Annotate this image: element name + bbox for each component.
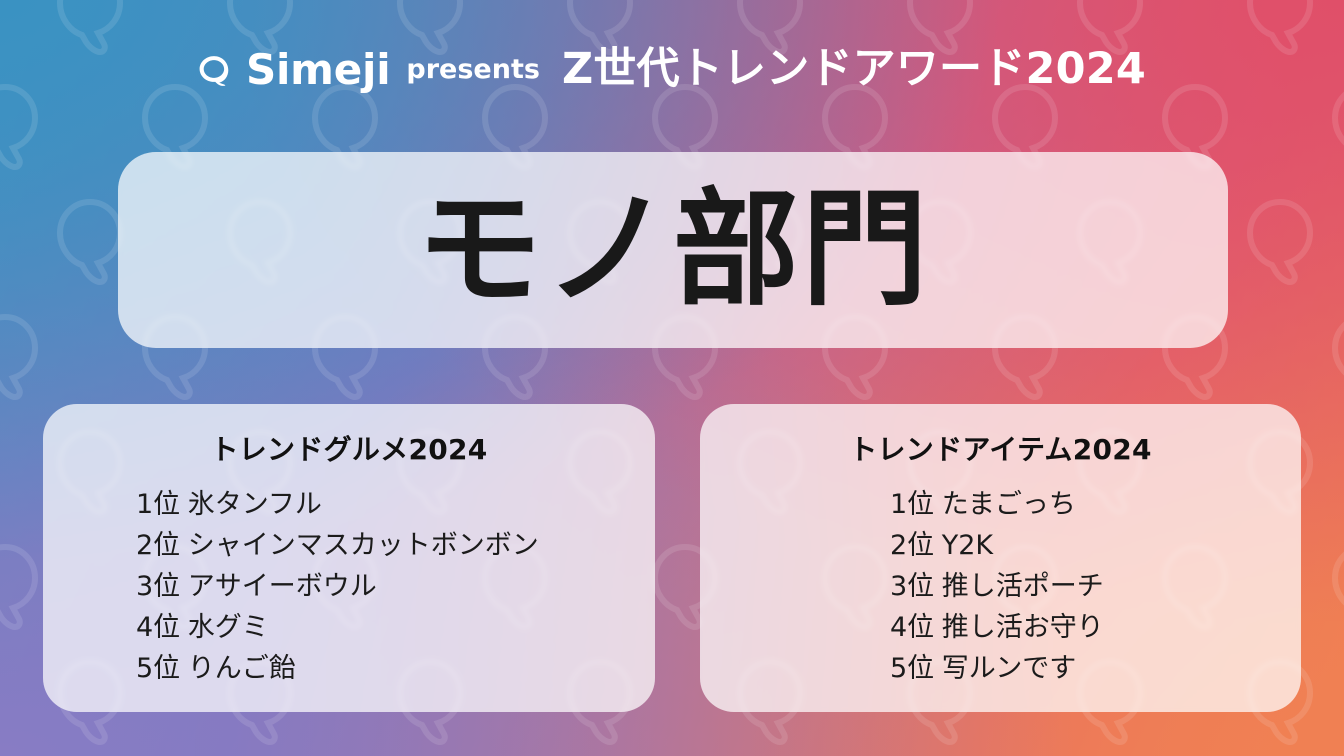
rank-position: 3位 [136, 571, 180, 602]
list-item: 1位氷タンフル [136, 484, 655, 525]
list-item: 3位アサイーボウル [136, 566, 655, 607]
ranking-heading: トレンドグルメ2024 [43, 428, 655, 468]
list-item: 4位推し活お守り [890, 607, 1301, 648]
rank-position: 5位 [136, 653, 180, 684]
ranking-card-gourmet: トレンドグルメ2024 1位氷タンフル 2位シャインマスカットボンボン 3位アサ… [43, 404, 655, 712]
rank-position: 2位 [136, 530, 180, 561]
page-title: モノ部門 [416, 187, 930, 313]
rank-position: 4位 [890, 612, 934, 643]
list-item: 1位たまごっち [890, 484, 1301, 525]
award-title: Z世代トレンドアワード2024 [562, 48, 1146, 91]
presents-label: presents [406, 56, 540, 83]
ranking-list: 1位氷タンフル 2位シャインマスカットボンボン 3位アサイーボウル 4位水グミ … [43, 484, 655, 689]
list-item: 3位推し活ポーチ [890, 566, 1301, 607]
rank-position: 2位 [890, 530, 934, 561]
rank-name: たまごっち [942, 489, 1076, 520]
ranking-heading: トレンドアイテム2024 [700, 428, 1301, 468]
list-item: 2位Y2K [890, 525, 1301, 566]
rank-position: 4位 [136, 612, 180, 643]
category-title-card: モノ部門 [118, 152, 1228, 348]
rank-name: 推し活ポーチ [942, 571, 1104, 602]
poster-header: Simeji presents Z世代トレンドアワード2024 [0, 48, 1344, 91]
simeji-q-bubble-icon [198, 54, 232, 88]
rank-position: 1位 [136, 489, 180, 520]
rank-name: 氷タンフル [188, 489, 322, 520]
rank-name: アサイーボウル [188, 571, 377, 602]
list-item: 4位水グミ [136, 607, 655, 648]
rank-name: シャインマスカットボンボン [188, 530, 539, 561]
rank-name: 水グミ [188, 612, 269, 643]
rank-name: りんご飴 [188, 653, 296, 684]
list-item: 5位写ルンです [890, 648, 1301, 689]
poster-canvas: Simeji presents Z世代トレンドアワード2024 モノ部門 トレン… [0, 0, 1344, 756]
ranking-card-item: トレンドアイテム2024 1位たまごっち 2位Y2K 3位推し活ポーチ 4位推し… [700, 404, 1301, 712]
rank-position: 3位 [890, 571, 934, 602]
list-item: 2位シャインマスカットボンボン [136, 525, 655, 566]
rank-name: 写ルンです [942, 653, 1076, 684]
list-item: 5位りんご飴 [136, 648, 655, 689]
ranking-list: 1位たまごっち 2位Y2K 3位推し活ポーチ 4位推し活お守り 5位写ルンです [700, 484, 1301, 689]
rank-name: 推し活お守り [942, 612, 1104, 643]
rank-name: Y2K [942, 530, 993, 561]
rank-position: 5位 [890, 653, 934, 684]
brand-name: Simeji [246, 49, 390, 91]
rank-position: 1位 [890, 489, 934, 520]
